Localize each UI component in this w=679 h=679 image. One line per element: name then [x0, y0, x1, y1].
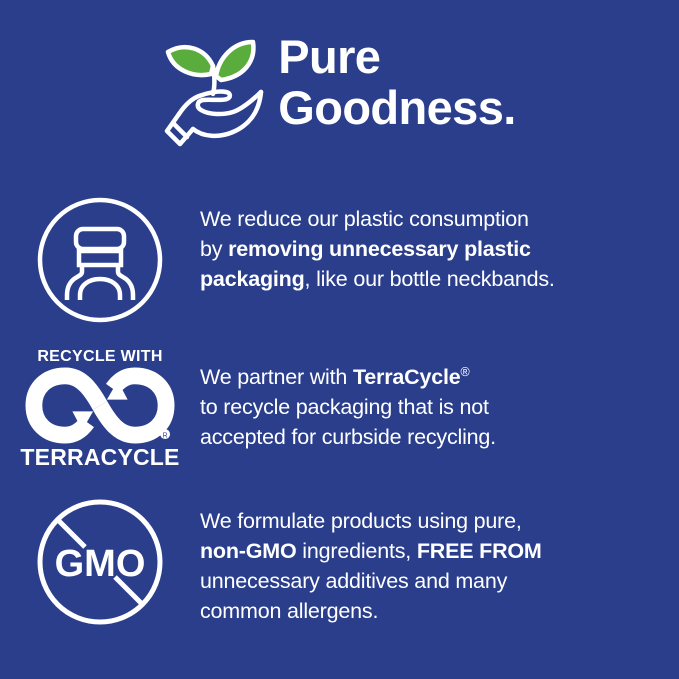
page-title-line-2: Goodness. [278, 83, 515, 134]
body-text: unnecessary additives and many [200, 569, 507, 593]
registered-mark: ® [461, 365, 470, 379]
hand-holding-sprout-icon [163, 30, 268, 148]
benefit-row-plastic: We reduce our plastic consumptionby remo… [0, 196, 679, 324]
benefit-text-line: to recycle packaging that is not [200, 392, 663, 422]
benefit-text-line: We formulate products using pure, [200, 506, 663, 536]
bottle-neckband-circle-icon [0, 196, 200, 324]
no-gmo-circle-icon: GMO [0, 498, 200, 626]
emphasis-text: TerraCycle [353, 365, 461, 389]
benefit-text-gmo: We formulate products using pure,non-GMO… [200, 498, 679, 626]
terracycle-badge-top-text: RECYCLE WITH [37, 348, 162, 366]
benefit-text-plastic: We reduce our plastic consumptionby remo… [200, 196, 679, 294]
benefit-row-terracycle: RECYCLE WITH R [0, 348, 679, 471]
body-text: by [200, 237, 228, 261]
benefit-row-gmo: GMO We formulate products using pure,non… [0, 498, 679, 626]
body-text: accepted for curbside recycling. [200, 425, 496, 449]
emphasis-text: packaging [200, 267, 305, 291]
benefit-text-line: We reduce our plastic consumption [200, 204, 663, 234]
body-text: We formulate products using pure, [200, 509, 522, 533]
page-title: Pure Goodness. [278, 32, 515, 134]
infinity-recycle-arrows-icon: R [26, 368, 174, 443]
emphasis-text: non-GMO [200, 539, 297, 563]
brand-lockup: Pure Goodness. [0, 22, 679, 162]
benefit-text-line: accepted for curbside recycling. [200, 422, 663, 452]
pure-goodness-infographic: Pure Goodness. We reduce our plastic con… [0, 0, 679, 679]
benefit-text-line: common allergens. [200, 596, 663, 626]
terracycle-logo-icon: RECYCLE WITH R [0, 348, 200, 471]
terracycle-badge-bottom-text: TERRACYCLE [20, 444, 179, 471]
svg-text:R: R [163, 433, 168, 440]
emphasis-text: removing unnecessary plastic [228, 237, 531, 261]
body-text: We partner with [200, 365, 353, 389]
emphasis-text: FREE FROM [417, 539, 542, 563]
benefit-text-terracycle: We partner with TerraCycle®to recycle pa… [200, 348, 679, 452]
benefit-text-line: unnecessary additives and many [200, 566, 663, 596]
page-title-line-1: Pure [278, 32, 515, 83]
body-text: ingredients, [297, 539, 417, 563]
body-text: , like our bottle neckbands. [305, 267, 555, 291]
benefit-text-line: packaging, like our bottle neckbands. [200, 264, 663, 294]
body-text: common allergens. [200, 599, 378, 623]
body-text: to recycle packaging that is not [200, 395, 489, 419]
terracycle-badge: RECYCLE WITH R [25, 348, 175, 471]
body-text: We reduce our plastic consumption [200, 207, 529, 231]
benefit-text-line: non-GMO ingredients, FREE FROM [200, 536, 663, 566]
no-gmo-label: GMO [55, 543, 146, 585]
benefit-text-line: by removing unnecessary plastic [200, 234, 663, 264]
benefit-text-line: We partner with TerraCycle® [200, 362, 663, 392]
